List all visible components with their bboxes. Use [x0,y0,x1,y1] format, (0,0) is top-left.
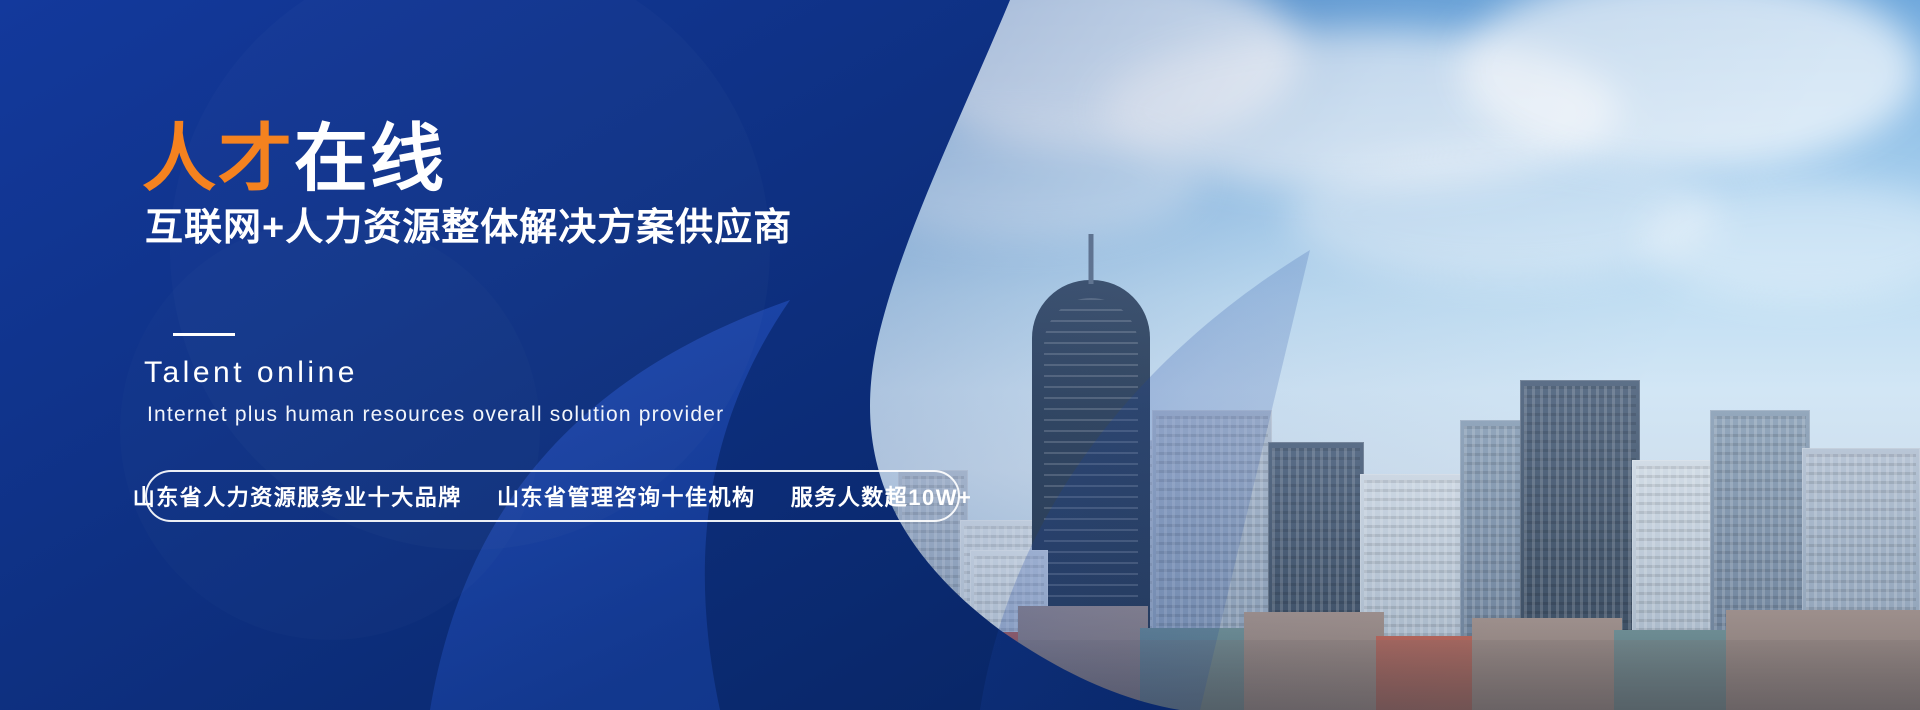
credentials-badge-text: 山东省人力资源服务业十大品牌 山东省管理咨询十佳机构 服务人数超10W+ [133,480,973,512]
hero-banner: 人才在线 互联网+人力资源整体解决方案供应商 Talent online Int… [0,0,1920,710]
page-subtitle: 互联网+人力资源整体解决方案供应商 [145,196,792,251]
title-highlight: 人才 [142,117,294,200]
divider-rule [173,333,235,336]
banner-content: 人才在线 互联网+人力资源整体解决方案供应商 Talent online Int… [0,0,1000,710]
credential-item-3: 服务人数超10W+ [791,485,973,510]
credential-item-1: 山东省人力资源服务业十大品牌 [133,485,462,510]
page-title: 人才在线 [142,122,446,196]
english-heading: Talent online [144,356,358,390]
english-tagline: Internet plus human resources overall so… [147,403,724,427]
credential-item-2: 山东省管理咨询十佳机构 [497,485,756,510]
title-rest: 在线 [294,117,446,200]
credentials-badge: 山东省人力资源服务业十大品牌 山东省管理咨询十佳机构 服务人数超10W+ [145,470,960,522]
